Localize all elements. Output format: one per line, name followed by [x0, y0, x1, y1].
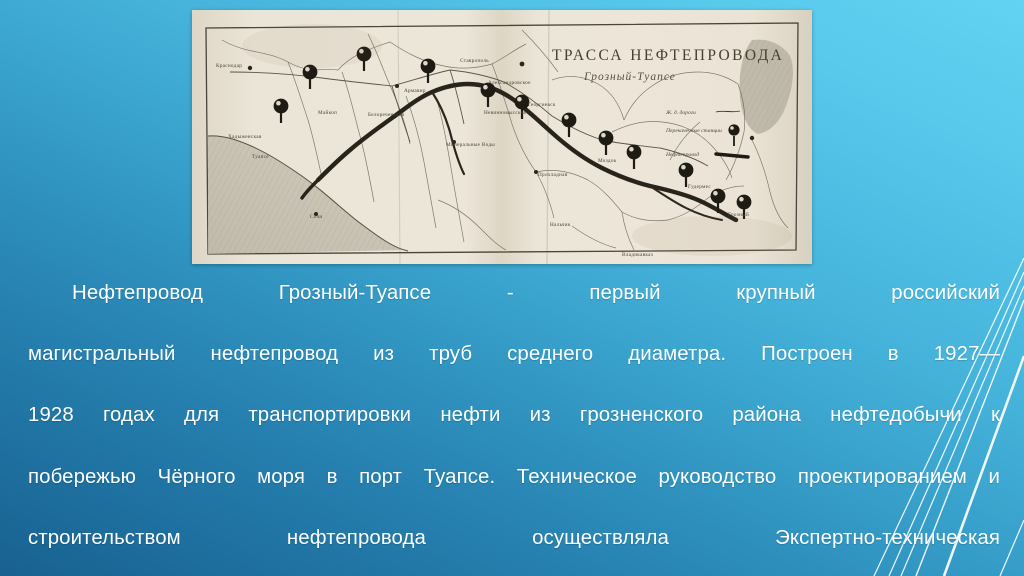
- svg-text:Туапсе: Туапсе: [252, 154, 269, 160]
- svg-text:Александровское: Александровское: [488, 80, 531, 86]
- svg-text:Прохладная: Прохладная: [538, 172, 568, 178]
- svg-text:Владикавказ: Владикавказ: [622, 252, 653, 258]
- svg-text:Моздок: Моздок: [598, 158, 617, 164]
- legend-label-station: Перекачечные станции: [665, 128, 722, 134]
- paragraph: Нефтепровод Грозный-Туапсе - первый круп…: [28, 278, 1000, 576]
- map-title: ТРАССА НЕФТЕПРОВОДА: [552, 47, 784, 64]
- svg-text:Георгиевск: Георгиевск: [528, 102, 556, 108]
- text-line: строительством нефтепровода осуществляла…: [28, 523, 1000, 576]
- text-line: 1928 годах для транспортировки нефти из …: [28, 400, 1000, 461]
- svg-text:Гудермес: Гудермес: [688, 184, 711, 190]
- legend-label-railway: Ж. д. дороги: [665, 109, 696, 116]
- slide-body-text: Нефтепровод Грозный-Туапсе - первый круп…: [28, 278, 1000, 576]
- svg-text:Невинномысская: Невинномысская: [484, 110, 526, 116]
- svg-text:Ставрополь: Ставрополь: [460, 58, 489, 64]
- svg-text:Минеральные Воды: Минеральные Воды: [446, 142, 495, 148]
- text-line: магистральный нефтепровод из труб средне…: [28, 339, 1000, 400]
- svg-text:Краснодар: Краснодар: [216, 63, 242, 69]
- map-subtitle: Грозный-Туапсе: [583, 70, 676, 83]
- svg-text:Сочи: Сочи: [310, 214, 323, 220]
- legend-symbol-railway: [716, 111, 740, 112]
- pipeline-route-map: Краснодар Майкоп Белореченская Армавир С…: [192, 10, 812, 264]
- text-line: Нефтепровод Грозный-Туапсе - первый круп…: [28, 278, 1000, 339]
- legend-label-pipeline: Нефтепровод: [665, 151, 699, 158]
- text-line: побережью Чёрного моря в порт Туапсе. Те…: [28, 462, 1000, 523]
- presentation-slide: Краснодар Майкоп Белореченская Армавир С…: [0, 0, 1024, 576]
- svg-text:Белореченская: Белореченская: [368, 112, 405, 118]
- map-illustration: Краснодар Майкоп Белореченская Армавир С…: [192, 10, 812, 264]
- svg-text:Нальчик: Нальчик: [550, 222, 571, 228]
- svg-text:Майкоп: Майкоп: [318, 109, 337, 116]
- svg-text:Хадыженская: Хадыженская: [228, 134, 262, 140]
- svg-text:Армавир: Армавир: [404, 88, 426, 94]
